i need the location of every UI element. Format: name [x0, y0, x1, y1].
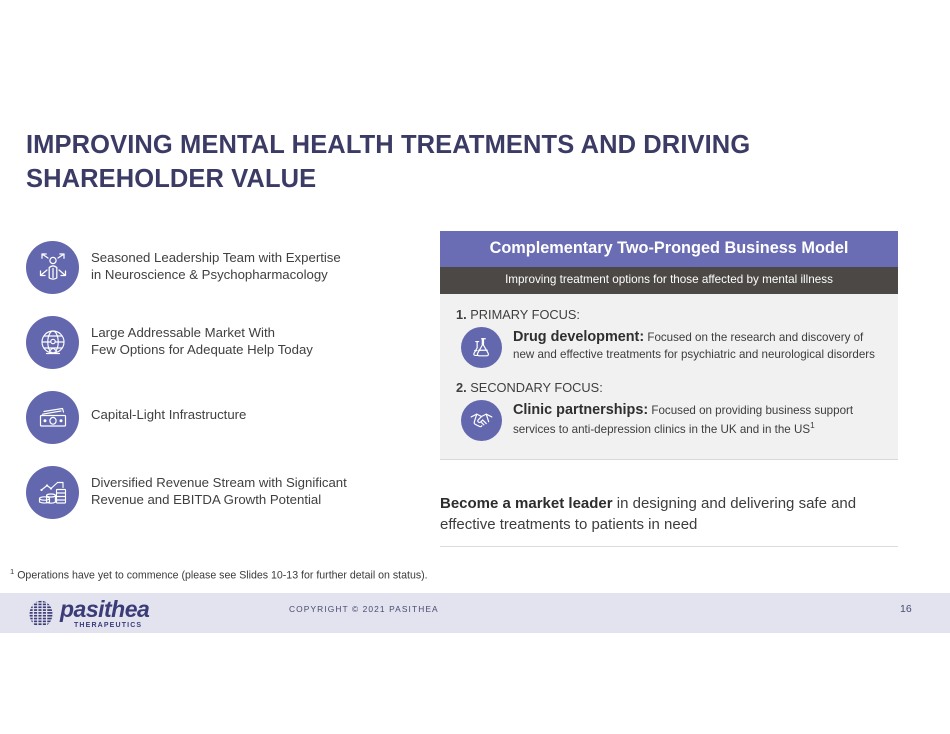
primary-focus-lead: Drug development: — [513, 329, 644, 345]
primary-focus-number: 1. — [456, 307, 467, 322]
slide-canvas: IMPROVING MENTAL HEALTH TREATMENTS AND D… — [0, 0, 950, 734]
global-market-people-icon — [26, 316, 79, 369]
panel-title: Complementary Two-Pronged Business Model — [440, 231, 898, 267]
leadership-network-icon — [26, 241, 79, 294]
feature-list: Seasoned Leadership Team with Expertise … — [26, 240, 426, 540]
panel-subtitle: Improving treatment options for those af… — [440, 267, 898, 294]
handshake-icon — [461, 400, 502, 441]
closing-lead: Become a market leader — [440, 495, 613, 512]
footnote: 1 Operations have yet to commence (pleas… — [10, 567, 428, 582]
secondary-focus-lead: Clinic partnerships: — [513, 402, 648, 418]
feature-item-label: Seasoned Leadership Team with Expertise … — [91, 240, 341, 284]
feature-item-revenue: Diversified Revenue Stream with Signific… — [26, 465, 426, 521]
primary-focus-text: Drug development: Focused on the researc… — [513, 326, 885, 363]
footnote-text: Operations have yet to commence (please … — [14, 570, 427, 582]
pasithea-logo: pasithea THERAPEUTICS — [26, 598, 149, 629]
page-title: IMPROVING MENTAL HEALTH TREATMENTS AND D… — [26, 128, 856, 196]
secondary-focus-row: Clinic partnerships: Focused on providin… — [461, 399, 885, 441]
feature-item-leadership: Seasoned Leadership Team with Expertise … — [26, 240, 426, 296]
panel-body: 1. PRIMARY FOCUS: Drug development: — [440, 294, 898, 460]
primary-focus-row: Drug development: Focused on the researc… — [461, 326, 885, 368]
lab-flasks-icon — [461, 327, 502, 368]
feature-item-market: Large Addressable Market With Few Option… — [26, 315, 426, 371]
copyright-text: COPYRIGHT © 2021 PASITHEA — [289, 604, 439, 614]
feature-item-label: Large Addressable Market With Few Option… — [91, 315, 313, 359]
secondary-focus-label: 2. SECONDARY FOCUS: — [456, 380, 885, 395]
globe-logo-icon — [26, 599, 56, 629]
banknotes-icon — [26, 391, 79, 444]
closing-divider — [440, 546, 898, 547]
logo-wordmark: pasithea THERAPEUTICS — [60, 598, 149, 629]
secondary-focus-text: Clinic partnerships: Focused on providin… — [513, 399, 885, 437]
secondary-focus-footnote-marker: 1 — [810, 420, 815, 430]
secondary-focus-title: SECONDARY FOCUS: — [470, 380, 603, 395]
feature-item-capital-light: Capital-Light Infrastructure — [26, 390, 426, 446]
feature-item-label: Diversified Revenue Stream with Signific… — [91, 465, 347, 509]
logo-tagline: THERAPEUTICS — [74, 622, 149, 629]
closing-statement: Become a market leader in designing and … — [440, 493, 898, 536]
secondary-focus-number: 2. — [456, 380, 467, 395]
primary-focus-title: PRIMARY FOCUS: — [470, 307, 580, 322]
primary-focus-label: 1. PRIMARY FOCUS: — [456, 307, 885, 322]
coins-growth-chart-icon — [26, 466, 79, 519]
business-model-panel: Complementary Two-Pronged Business Model… — [440, 231, 898, 460]
logo-name: pasithea — [60, 598, 149, 621]
feature-item-label: Capital-Light Infrastructure — [91, 390, 246, 424]
page-number: 16 — [900, 603, 912, 615]
